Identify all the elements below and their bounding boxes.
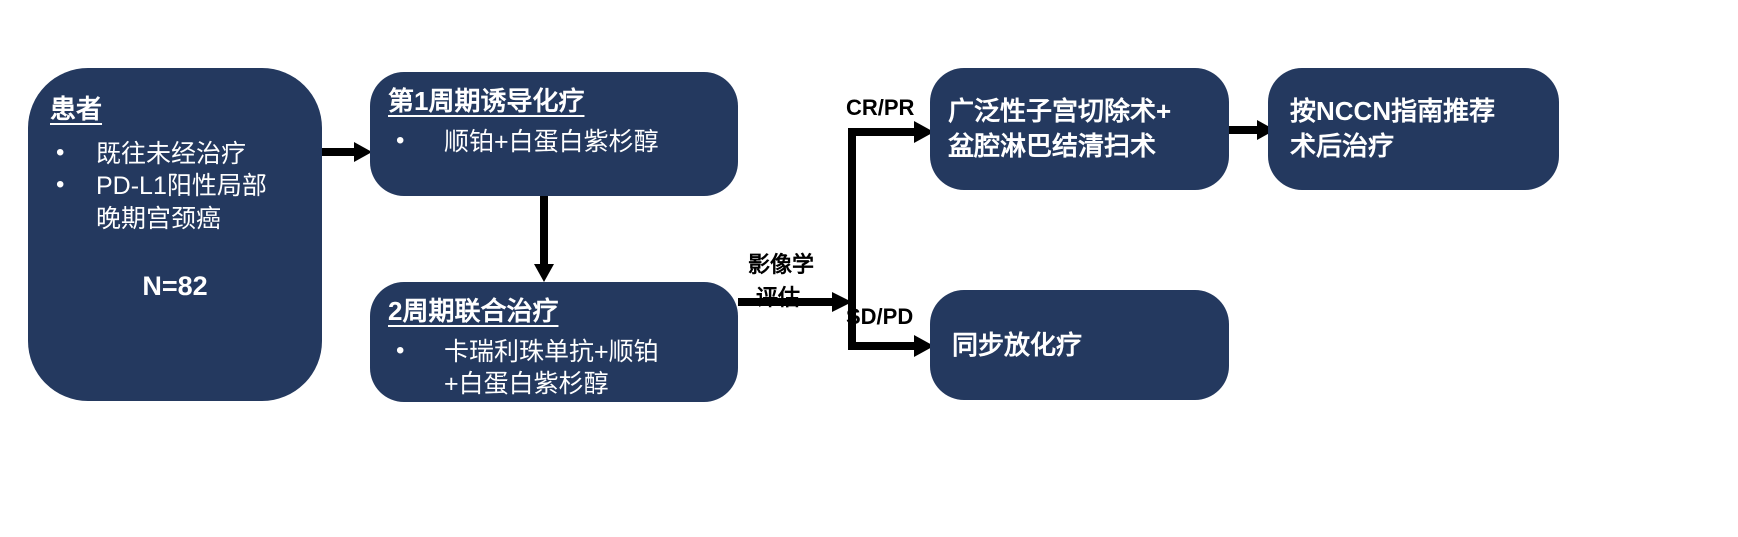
flowchart-canvas: CR/PR SD/PD 影像学 评估 患者 既往未经治疗 PD-L1阳性局部 晚… <box>0 0 1738 537</box>
bullet-line-2: +白蛋白紫杉醇 <box>444 368 720 401</box>
node-ccrt-line-1: 同步放化疗 <box>952 328 1207 363</box>
node-nccn-line-1: 按NCCN指南推荐 <box>1290 94 1537 129</box>
node-nccn-line-2: 术后治疗 <box>1290 129 1537 164</box>
bullet-line-2: 晚期宫颈癌 <box>96 203 300 236</box>
edge-label-imaging-line2: 评估 <box>756 285 800 311</box>
node-surgery-line-2: 盆腔淋巴结清扫术 <box>948 129 1211 164</box>
list-item: PD-L1阳性局部 晚期宫颈癌 <box>50 170 300 235</box>
node-radical-hysterectomy[interactable]: 广泛性子宫切除术+ 盆腔淋巴结清扫术 <box>930 68 1229 190</box>
node-cycle2-title: 2周期联合治疗 <box>388 296 558 328</box>
node-cycle1-title: 第1周期诱导化疗 <box>388 86 584 118</box>
edge-label-cr-pr: CR/PR <box>846 95 914 121</box>
edge-label-sd-pd: SD/PD <box>846 304 913 330</box>
arrow-cycle1-to-cycle2 <box>530 196 558 284</box>
bullet-line-1: 顺铂+白蛋白紫杉醇 <box>444 128 659 156</box>
node-patient[interactable]: 患者 既往未经治疗 PD-L1阳性局部 晚期宫颈癌 N=82 <box>28 68 322 401</box>
node-patient-bullets: 既往未经治疗 PD-L1阳性局部 晚期宫颈癌 <box>50 138 300 236</box>
node-cycle2-combination-therapy[interactable]: 2周期联合治疗 卡瑞利珠单抗+顺铂 +白蛋白紫杉醇 <box>370 282 738 402</box>
bullet-line-1: 既往未经治疗 <box>96 140 246 168</box>
bullet-line-1: 卡瑞利珠单抗+顺铂 <box>444 338 659 366</box>
list-item: 卡瑞利珠单抗+顺铂 +白蛋白紫杉醇 <box>388 336 720 401</box>
node-surgery-line-1: 广泛性子宫切除术+ <box>948 94 1211 129</box>
node-patient-sample-size: N=82 <box>50 271 300 302</box>
node-cycle1-bullets: 顺铂+白蛋白紫杉醇 <box>388 126 720 159</box>
list-item: 顺铂+白蛋白紫杉醇 <box>388 126 720 159</box>
node-concurrent-chemoradiotherapy[interactable]: 同步放化疗 <box>930 290 1229 400</box>
edge-label-imaging-line1: 影像学 <box>748 252 814 278</box>
list-item: 既往未经治疗 <box>50 138 300 171</box>
arrow-patient-to-cycle1 <box>322 140 374 164</box>
node-nccn-adjuvant-therapy[interactable]: 按NCCN指南推荐 术后治疗 <box>1268 68 1559 190</box>
node-cycle1-induction-chemo[interactable]: 第1周期诱导化疗 顺铂+白蛋白紫杉醇 <box>370 72 738 196</box>
bullet-line-1: PD-L1阳性局部 <box>96 172 267 200</box>
node-cycle2-bullets: 卡瑞利珠单抗+顺铂 +白蛋白紫杉醇 <box>388 336 720 401</box>
node-patient-title: 患者 <box>50 94 102 126</box>
